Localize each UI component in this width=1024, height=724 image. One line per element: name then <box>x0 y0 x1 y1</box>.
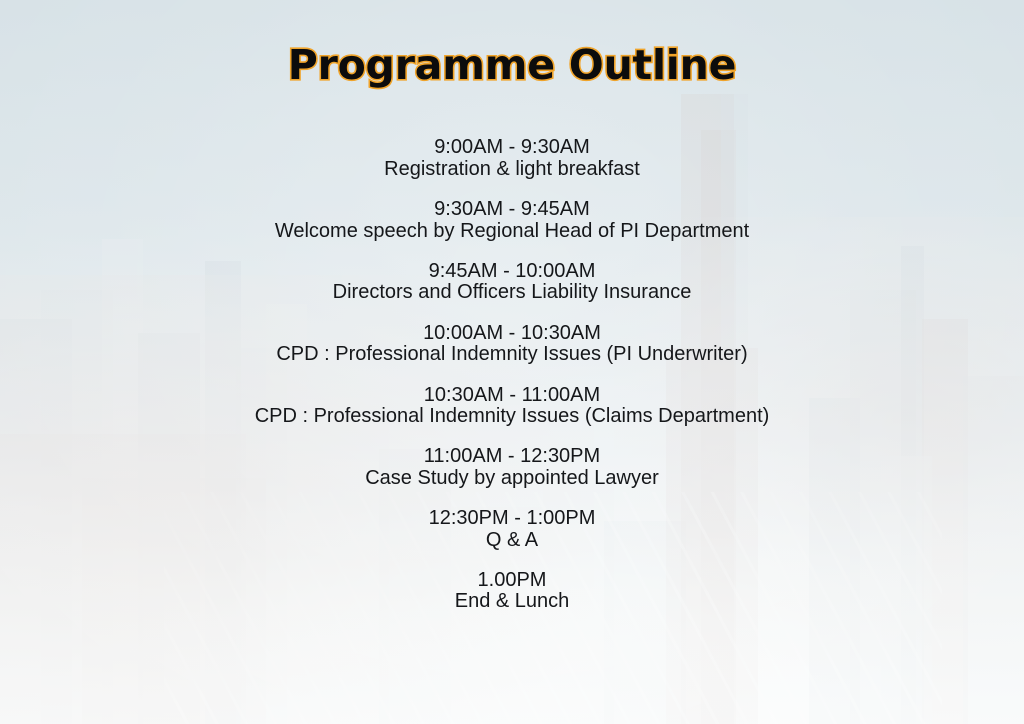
schedule-item-time: 9:45AM - 10:00AM <box>333 261 692 281</box>
schedule-item: 10:30AM - 11:00AM CPD : Professional Ind… <box>255 385 770 427</box>
schedule-item-description: Welcome speech by Regional Head of PI De… <box>275 221 749 241</box>
schedule-item-description: End & Lunch <box>455 591 570 611</box>
schedule-item-description: Case Study by appointed Lawyer <box>365 468 659 488</box>
schedule-item-description: CPD : Professional Indemnity Issues (PI … <box>276 344 747 364</box>
schedule-item: 11:00AM - 12:30PM Case Study by appointe… <box>365 446 659 488</box>
schedule-item-time: 9:30AM - 9:45AM <box>275 199 749 219</box>
page-title: Programme Outline <box>288 45 737 86</box>
schedule-item-time: 10:00AM - 10:30AM <box>276 323 747 343</box>
schedule-item: 9:00AM - 9:30AM Registration & light bre… <box>384 137 640 179</box>
schedule-item-time: 1.00PM <box>455 570 570 590</box>
schedule-item-description: Registration & light breakfast <box>384 159 640 179</box>
schedule-item-time: 11:00AM - 12:30PM <box>365 446 659 466</box>
schedule-item-time: 9:00AM - 9:30AM <box>384 137 640 157</box>
schedule-item: 9:30AM - 9:45AM Welcome speech by Region… <box>275 199 749 241</box>
schedule-item-time: 12:30PM - 1:00PM <box>429 508 596 528</box>
programme-outline-slide: Programme Outline 9:00AM - 9:30AM Regist… <box>0 0 1024 724</box>
schedule-item-description: CPD : Professional Indemnity Issues (Cla… <box>255 406 770 426</box>
slide-content: Programme Outline 9:00AM - 9:30AM Regist… <box>0 0 1024 724</box>
schedule-item: 9:45AM - 10:00AM Directors and Officers … <box>333 261 692 303</box>
schedule-item-time: 10:30AM - 11:00AM <box>255 385 770 405</box>
schedule-item: 10:00AM - 10:30AM CPD : Professional Ind… <box>276 323 747 365</box>
programme-schedule-list: 9:00AM - 9:30AM Registration & light bre… <box>0 137 1024 611</box>
schedule-item-description: Q & A <box>429 530 596 550</box>
schedule-item: 12:30PM - 1:00PM Q & A <box>429 508 596 550</box>
schedule-item-description: Directors and Officers Liability Insuran… <box>333 282 692 302</box>
schedule-item: 1.00PM End & Lunch <box>455 570 570 612</box>
